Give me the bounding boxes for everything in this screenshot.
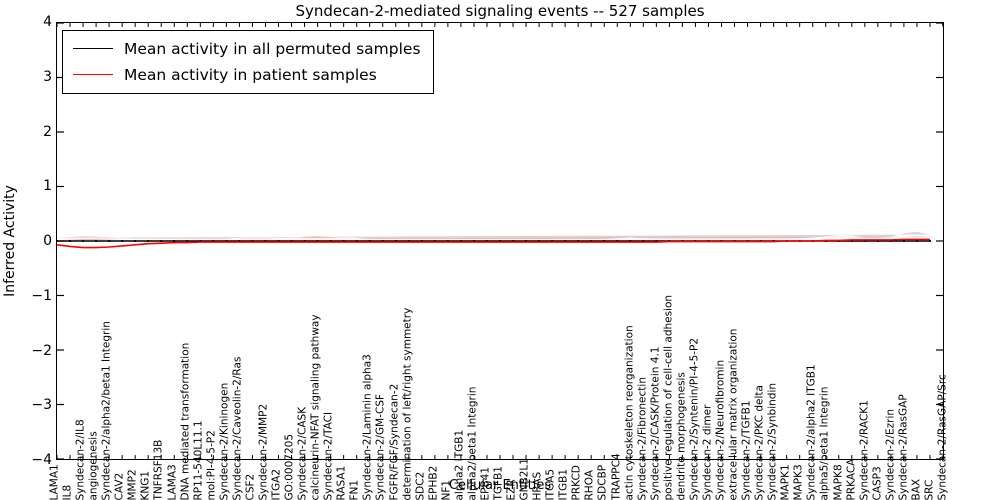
y-tick-label: 1 bbox=[4, 178, 52, 194]
x-tick-label: positive regulation of cell-cell adhesio… bbox=[663, 294, 674, 500]
x-tick-label: calcineurin-NFAT signaling pathway bbox=[311, 314, 322, 500]
y-tick-label: −1 bbox=[4, 288, 52, 304]
legend-item: Mean activity in patient samples bbox=[73, 63, 421, 86]
y-tick-label: −2 bbox=[4, 343, 52, 359]
x-axis-label: Cellular Entities bbox=[0, 478, 1000, 493]
legend-line-swatch bbox=[73, 74, 113, 75]
x-tick-label: DNA mediated transformation bbox=[180, 342, 191, 500]
x-tick-label: actin cytoskeleton reorganization bbox=[624, 325, 635, 500]
y-tick-label: 4 bbox=[4, 14, 52, 30]
chart-legend: Mean activity in all permuted samplesMea… bbox=[62, 30, 434, 94]
legend-item: Mean activity in all permuted samples bbox=[73, 37, 421, 60]
legend-line-swatch bbox=[73, 48, 113, 49]
legend-label: Mean activity in all permuted samples bbox=[124, 40, 421, 58]
x-tick-label: determination of left/right symmetry bbox=[402, 307, 413, 500]
y-tick-label: −3 bbox=[4, 397, 52, 413]
y-axis-ticks: 43210−1−2−3−4 bbox=[0, 22, 52, 460]
legend-label: Mean activity in patient samples bbox=[124, 66, 377, 84]
chart-figure: Syndecan-2-mediated signaling events -- … bbox=[0, 0, 1000, 500]
x-tick-label: extracellular matrix organization bbox=[729, 328, 740, 500]
y-tick-label: 3 bbox=[4, 69, 52, 85]
x-tick-label: Syndecan-2/alpha2/beta1 Integrin bbox=[102, 321, 113, 500]
x-tick-label: Syndecan-2/Syntenin/PI-4-5-P2 bbox=[689, 337, 700, 500]
y-tick-label: 2 bbox=[4, 124, 52, 140]
y-tick-label: 0 bbox=[4, 233, 52, 249]
x-tick-label: Syndecan-2/CASK/Protein 4.1 bbox=[650, 346, 661, 500]
y-tick-label: −4 bbox=[4, 452, 52, 468]
chart-title: Syndecan-2-mediated signaling events -- … bbox=[0, 2, 1000, 20]
